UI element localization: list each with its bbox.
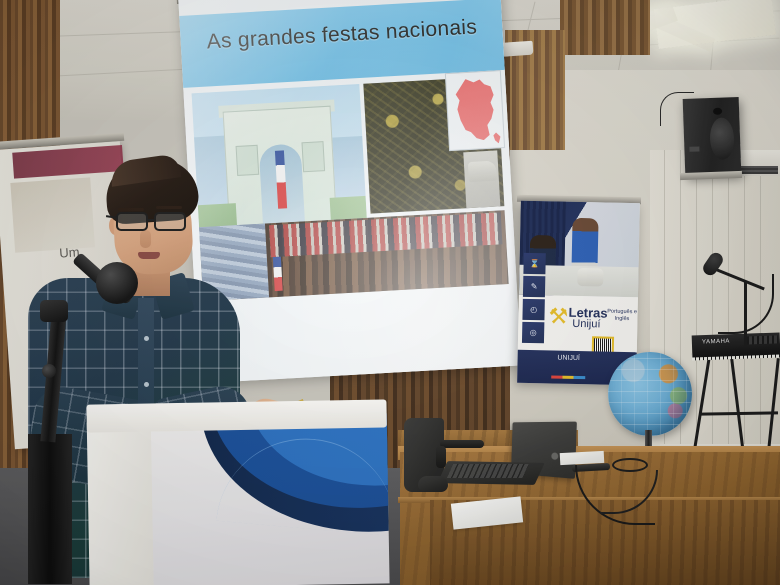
globe-longitude-lines (608, 352, 692, 436)
letras-unijui-banner: ⌛ ✎ ◴ ◎ ⚒ Letras Unijuí Português e Ingl… (517, 201, 640, 385)
eyeglasses (114, 212, 194, 232)
laptop-logo (551, 452, 558, 459)
eyeglass-lens-right (154, 212, 186, 231)
lightbulb-icon: ◎ (522, 322, 544, 343)
podium-desk-surface (86, 399, 386, 432)
office-chair-armrest (440, 440, 484, 448)
speaker-woofer (709, 117, 734, 160)
desk-cable-coil (612, 458, 648, 472)
banner-bag (577, 268, 603, 287)
podium-front-face (149, 413, 390, 585)
keyboard-control-panel[interactable] (744, 335, 778, 344)
presenter-eyebrow-left (118, 208, 144, 211)
presenter-mouth (138, 252, 160, 259)
hourglass-icon: ⌛ (523, 253, 545, 274)
unijui-logo: UNIJUÍ (553, 353, 583, 372)
banner-institution-name: Unijuí (572, 318, 600, 331)
microphone-stand-base (28, 434, 72, 584)
boom-mic-stand[interactable] (744, 282, 747, 346)
presenter-eyebrow-right (156, 206, 182, 209)
presentation-podium (86, 399, 389, 585)
microphone-clamp[interactable] (40, 300, 68, 322)
bastille-day-parade-photo (199, 210, 509, 301)
podium-left-side (87, 422, 154, 585)
shirt-button-1 (144, 336, 149, 341)
france-silhouette (452, 77, 499, 141)
eyeglass-lens-left (116, 212, 148, 231)
speaker-badge (689, 146, 699, 151)
microphone-stand-knob[interactable] (42, 364, 56, 378)
eyeglass-bridge (148, 219, 156, 221)
desk-globe[interactable] (608, 352, 692, 436)
france-map-graphic (445, 70, 505, 151)
corsica-silhouette (493, 132, 501, 143)
presenter-nose (140, 230, 151, 248)
computer-mouse[interactable] (418, 476, 448, 492)
keyboard-brand-label: YAMAHA (702, 339, 730, 346)
clock-icon: ◴ (522, 299, 544, 320)
banner-languages: Português e Inglês (606, 309, 637, 324)
shirt-button-2 (144, 382, 149, 387)
statue-figure (468, 161, 497, 183)
lecture-hall-scene: As grandes festas nacionais (0, 0, 780, 585)
podium-microphone[interactable] (96, 262, 138, 304)
document-pen-icon: ✎ (523, 276, 545, 297)
fleur-de-lis-icon: ⚒ (548, 305, 567, 331)
laptop-keyboard[interactable] (447, 464, 529, 478)
arch-relief-right (301, 141, 325, 172)
banner-icon-badge-list: ⌛ ✎ ◴ ◎ (522, 253, 546, 345)
ceiling-speaker (683, 97, 742, 177)
wood-panel-upper-right (560, 0, 650, 55)
speaker-tweeter (713, 108, 722, 115)
